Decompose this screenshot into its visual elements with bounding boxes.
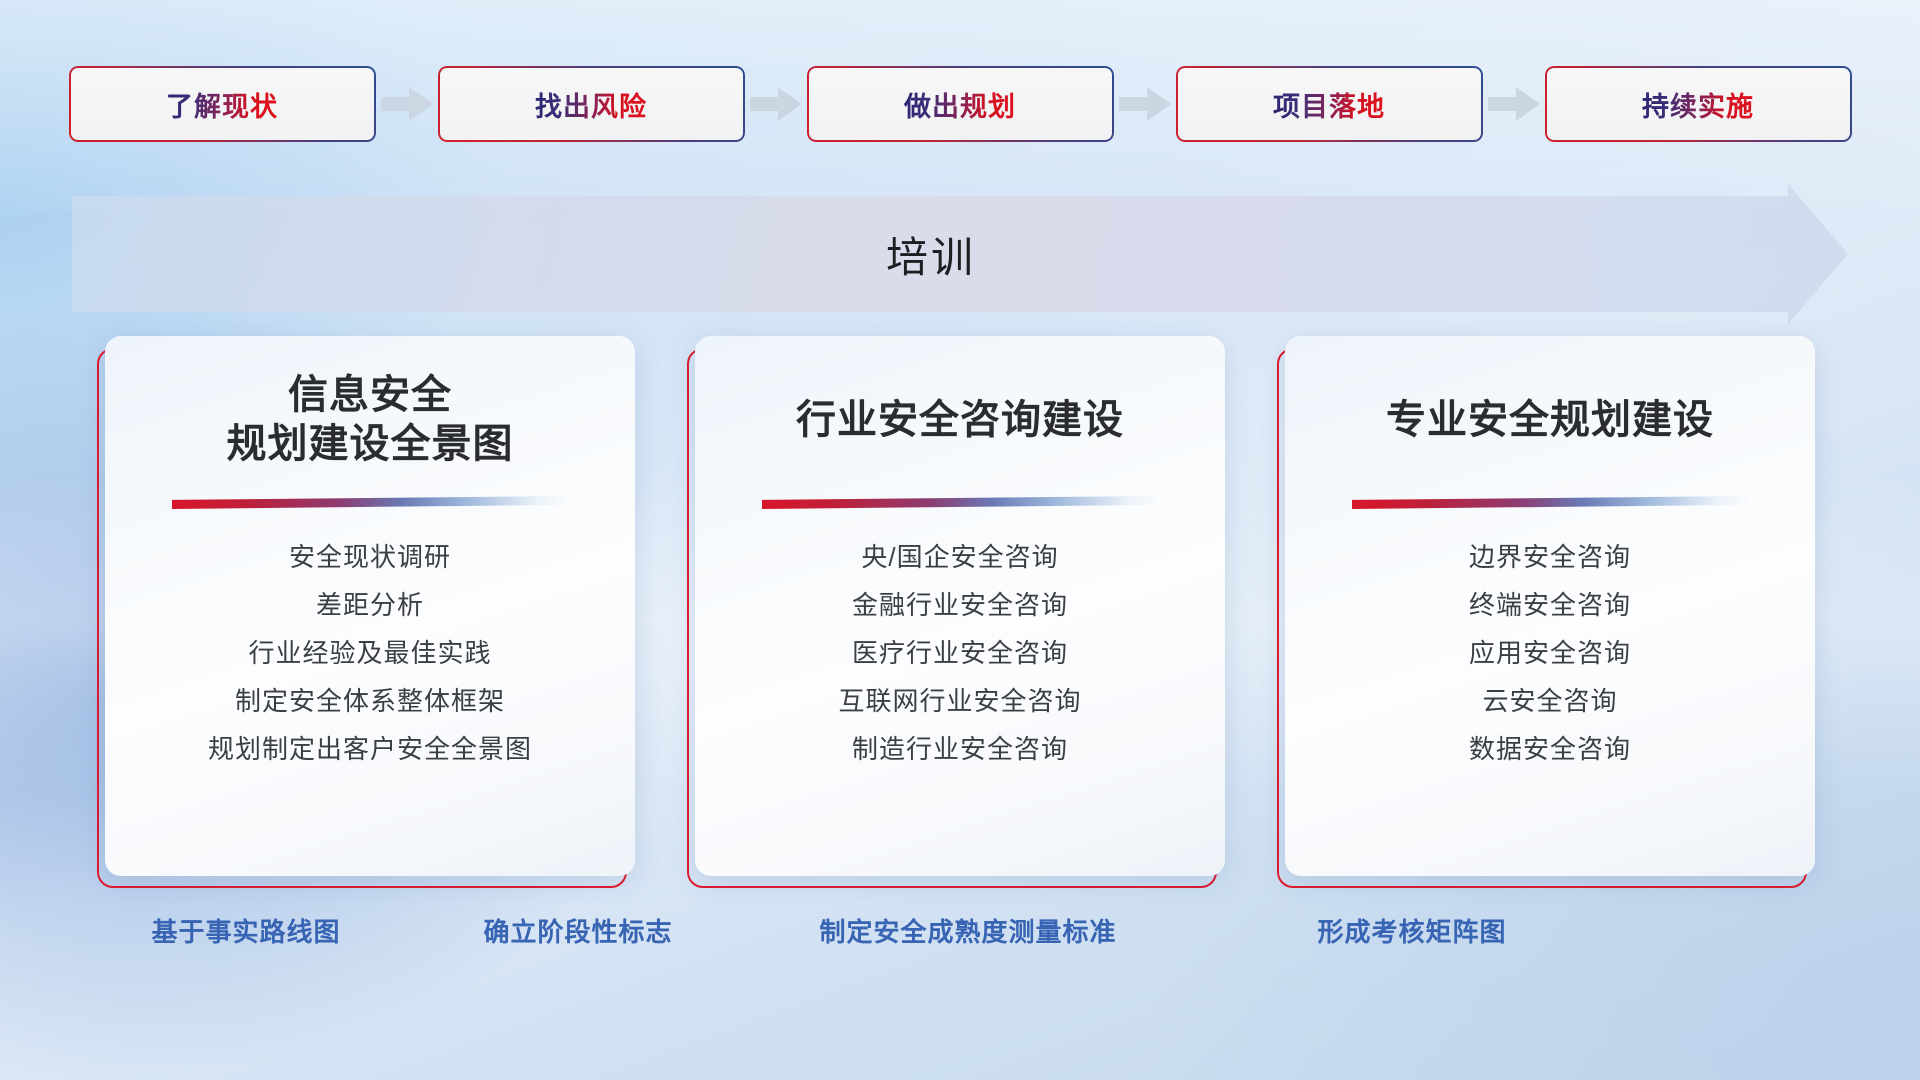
card-title: 行业安全咨询建设 xyxy=(796,370,1124,470)
step-label: 做出规划 xyxy=(904,85,1016,124)
step-label: 找出风险 xyxy=(535,85,647,124)
card-title-line1: 信息安全 xyxy=(227,371,514,420)
footer-label-roadmap: 基于事实路线图 xyxy=(151,912,340,949)
list-item: 医疗行业安全咨询 xyxy=(852,639,1068,669)
training-banner-title: 培训 xyxy=(72,196,1790,312)
card-item-list: 安全现状调研 差距分析 行业经验及最佳实践 制定安全体系整体框架 规划制定出客户… xyxy=(208,543,532,764)
step-item-4[interactable]: 项目落地 xyxy=(1178,68,1481,140)
footer-label-maturity-standard: 制定安全成熟度测量标准 xyxy=(819,912,1116,949)
step-item-5[interactable]: 持续实施 xyxy=(1547,68,1850,140)
training-banner-arrowhead xyxy=(1788,184,1848,324)
card-wrapper-2: 行业安全咨询建设 央/国企安全咨询 金融行业安全咨询 医疗行业安全咨询 互联网行… xyxy=(695,336,1225,876)
list-item: 边界安全咨询 xyxy=(1469,543,1631,573)
card-title-line1: 行业安全咨询建设 xyxy=(796,396,1124,445)
step-item-3[interactable]: 做出规划 xyxy=(809,68,1112,140)
list-item: 规划制定出客户安全全景图 xyxy=(208,735,532,765)
list-item: 行业经验及最佳实践 xyxy=(248,639,491,669)
step-label: 项目落地 xyxy=(1273,85,1385,124)
arrow-right-icon xyxy=(1481,84,1547,124)
card-divider xyxy=(172,496,568,509)
arrow-right-icon xyxy=(374,84,440,124)
card-divider xyxy=(762,496,1158,509)
step-label: 持续实施 xyxy=(1642,85,1754,124)
card-row: 信息安全 规划建设全景图 安全现状调研 差距分析 行业经验及最佳实践 制定安全体… xyxy=(0,336,1920,876)
step-item-2[interactable]: 找出风险 xyxy=(440,68,743,140)
footer-label-row: 基于事实路线图 确立阶段性标志 制定安全成熟度测量标准 形成考核矩阵图 xyxy=(0,912,1920,956)
list-item: 差距分析 xyxy=(316,591,424,621)
card-industry-security-consulting[interactable]: 行业安全咨询建设 央/国企安全咨询 金融行业安全咨询 医疗行业安全咨询 互联网行… xyxy=(695,336,1225,876)
arrow-right-icon xyxy=(1112,84,1178,124)
card-title: 专业安全规划建设 xyxy=(1386,370,1714,470)
card-information-security-blueprint[interactable]: 信息安全 规划建设全景图 安全现状调研 差距分析 行业经验及最佳实践 制定安全体… xyxy=(105,336,635,876)
card-wrapper-3: 专业安全规划建设 边界安全咨询 终端安全咨询 应用安全咨询 云安全咨询 数据安全… xyxy=(1285,336,1815,876)
list-item: 终端安全咨询 xyxy=(1469,591,1631,621)
list-item: 互联网行业安全咨询 xyxy=(838,687,1081,717)
card-professional-security-planning[interactable]: 专业安全规划建设 边界安全咨询 终端安全咨询 应用安全咨询 云安全咨询 数据安全… xyxy=(1285,336,1815,876)
card-item-list: 央/国企安全咨询 金融行业安全咨询 医疗行业安全咨询 互联网行业安全咨询 制造行… xyxy=(838,543,1081,764)
card-item-list: 边界安全咨询 终端安全咨询 应用安全咨询 云安全咨询 数据安全咨询 xyxy=(1469,543,1631,764)
step-item-1[interactable]: 了解现状 xyxy=(71,68,374,140)
card-title-line1: 专业安全规划建设 xyxy=(1386,396,1714,445)
card-title: 信息安全 规划建设全景图 xyxy=(227,370,514,470)
process-step-row: 了解现状 找出风险 做出规划 项目落地 持续实施 xyxy=(0,68,1920,140)
list-item: 应用安全咨询 xyxy=(1469,639,1631,669)
arrow-right-icon xyxy=(743,84,809,124)
list-item: 云安全咨询 xyxy=(1482,687,1617,717)
list-item: 安全现状调研 xyxy=(289,543,451,573)
training-banner: 培训 xyxy=(72,196,1848,312)
list-item: 制造行业安全咨询 xyxy=(852,735,1068,765)
list-item: 金融行业安全咨询 xyxy=(852,591,1068,621)
list-item: 数据安全咨询 xyxy=(1469,735,1631,765)
card-divider xyxy=(1352,496,1748,509)
card-wrapper-1: 信息安全 规划建设全景图 安全现状调研 差距分析 行业经验及最佳实践 制定安全体… xyxy=(105,336,635,876)
footer-label-assessment-matrix: 形成考核矩阵图 xyxy=(1317,912,1506,949)
footer-label-milestones: 确立阶段性标志 xyxy=(483,912,672,949)
list-item: 制定安全体系整体框架 xyxy=(235,687,505,717)
step-label: 了解现状 xyxy=(166,85,278,124)
card-title-line2: 规划建设全景图 xyxy=(227,420,514,469)
list-item: 央/国企安全咨询 xyxy=(861,543,1058,573)
